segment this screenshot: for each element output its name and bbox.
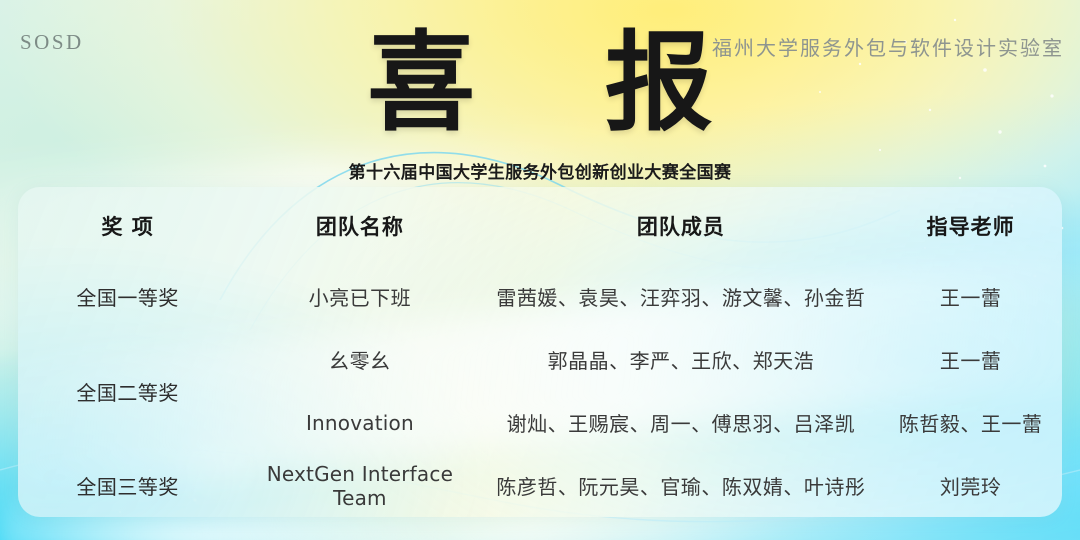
- cell-team-name: 小亮已下班: [237, 265, 482, 328]
- cell-award: 全国一等奖: [18, 265, 237, 328]
- column-header-teacher: 指导老师: [879, 187, 1062, 265]
- cell-team-members: 陈彦哲、阮元昊、官瑜、陈双婧、叶诗彤: [483, 454, 880, 517]
- column-header-award: 奖 项: [18, 187, 237, 265]
- table-row: 全国三等奖NextGen Interface Team陈彦哲、阮元昊、官瑜、陈双…: [18, 454, 1062, 517]
- awards-table: 奖 项 团队名称 团队成员 指导老师 全国一等奖小亮已下班雷茜媛、袁昊、汪弈羽、…: [18, 187, 1062, 517]
- table-header-row: 奖 项 团队名称 团队成员 指导老师: [18, 187, 1062, 265]
- poster-canvas: SOSD 福州大学服务外包与软件设计实验室 喜 报 第十六届中国大学生服务外包创…: [0, 0, 1080, 540]
- cell-advisor: 王一蕾: [879, 328, 1062, 391]
- cell-advisor: 王一蕾: [879, 265, 1062, 328]
- column-header-members: 团队成员: [483, 187, 880, 265]
- competition-subtitle: 第十六届中国大学生服务外包创新创业大赛全国赛: [0, 158, 1080, 183]
- cell-team-name: NextGen Interface Team: [237, 454, 482, 517]
- cell-award: 全国三等奖: [18, 454, 237, 517]
- cell-team-name: Innovation: [237, 391, 482, 454]
- cell-team-members: 谢灿、王赐宸、周一、傅思羽、吕泽凯: [483, 391, 880, 454]
- cell-team-name: 幺零幺: [237, 328, 482, 391]
- cell-award: 全国二等奖: [18, 328, 237, 454]
- page-title: 喜 报: [0, 24, 1080, 145]
- results-panel: 奖 项 团队名称 团队成员 指导老师 全国一等奖小亮已下班雷茜媛、袁昊、汪弈羽、…: [18, 187, 1062, 517]
- awards-table-body: 全国一等奖小亮已下班雷茜媛、袁昊、汪弈羽、游文馨、孙金哲王一蕾全国二等奖幺零幺郭…: [18, 265, 1062, 517]
- table-row: 全国一等奖小亮已下班雷茜媛、袁昊、汪弈羽、游文馨、孙金哲王一蕾: [18, 265, 1062, 328]
- column-header-team: 团队名称: [237, 187, 482, 265]
- cell-advisor: 陈哲毅、王一蕾: [879, 391, 1062, 454]
- cell-team-members: 雷茜媛、袁昊、汪弈羽、游文馨、孙金哲: [483, 265, 880, 328]
- table-row: 全国二等奖幺零幺郭晶晶、李严、王欣、郑天浩王一蕾: [18, 328, 1062, 391]
- cell-team-members: 郭晶晶、李严、王欣、郑天浩: [483, 328, 880, 391]
- cell-advisor: 刘莞玲: [879, 454, 1062, 517]
